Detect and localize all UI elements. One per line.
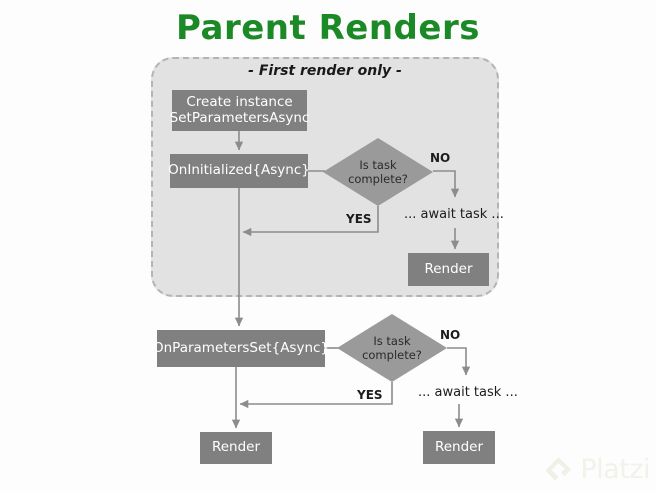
node-render-left-label: Render [212, 440, 260, 456]
node-oninitialized[interactable]: OnInitialized{Async} [170, 154, 308, 188]
node-render-first-label: Render [424, 262, 472, 278]
node-onparametersset-label: OnParametersSet{Async} [153, 341, 329, 357]
edge-label-no-bottom: NO [440, 328, 460, 342]
watermark: Platzi [544, 454, 650, 485]
node-render-right-label: Render [435, 440, 483, 456]
edge-label-yes-bottom: YES [357, 388, 383, 402]
node-render-first-render[interactable]: Render [408, 253, 489, 286]
edge-label-await-top: ... await task ... [404, 207, 504, 222]
first-render-caption: - First render only - [151, 63, 499, 79]
decision-is-task-complete-top[interactable]: Is task complete? [323, 138, 433, 206]
node-onparametersset[interactable]: OnParametersSet{Async} [157, 330, 325, 367]
edge-label-await-bottom: ... await task ... [418, 385, 518, 400]
decision-is-task-complete-bottom[interactable]: Is task complete? [337, 314, 447, 382]
watermark-text: Platzi [580, 454, 650, 485]
node-create-instance-line1: Create instance [186, 95, 292, 111]
slide-canvas: Parent Renders - First render only - [0, 0, 656, 491]
platzi-logo-icon [544, 455, 574, 485]
node-create-instance-line2: SetParametersAsync [170, 111, 310, 127]
page-title: Parent Renders [0, 8, 656, 48]
node-render-right[interactable]: Render [423, 431, 495, 464]
edge-label-yes-top: YES [346, 212, 372, 226]
edge-label-no-top: NO [430, 151, 450, 165]
node-render-left[interactable]: Render [200, 432, 272, 464]
node-oninitialized-label: OnInitialized{Async} [168, 163, 310, 179]
node-create-instance[interactable]: Create instance SetParametersAsync [172, 90, 307, 131]
